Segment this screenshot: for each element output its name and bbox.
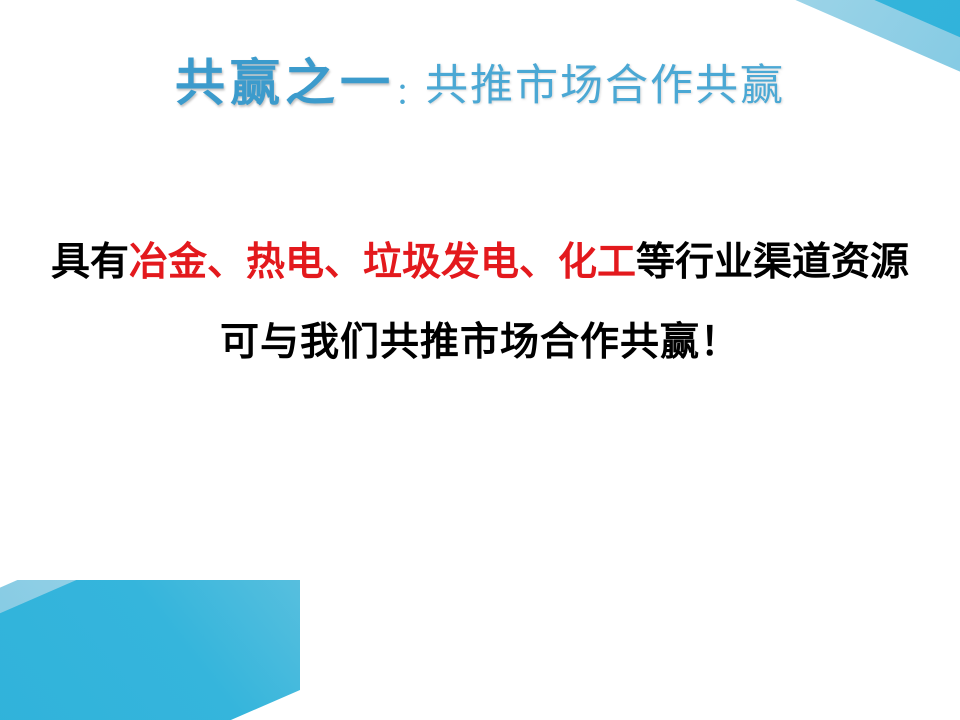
ribbon-band-dark-bottom-left — [0, 580, 300, 720]
slide-title-subtitle: 共推市场合作共赢 — [425, 61, 785, 111]
presentation-slide: 共赢之一：共推市场合作共赢 具有冶金、热电、垃圾发电、化工等行业渠道资源 可与我… — [0, 0, 960, 720]
body-line-2: 可与我们共推市场合作共赢！ — [0, 323, 960, 362]
ribbon-band-pale-bottom-left — [0, 580, 300, 720]
body-line-1: 具有冶金、热电、垃圾发电、化工等行业渠道资源 — [0, 243, 960, 282]
decoration-bottom-left — [0, 580, 300, 720]
slide-body: 具有冶金、热电、垃圾发电、化工等行业渠道资源 可与我们共推市场合作共赢！ — [0, 243, 960, 362]
slide-title-main: 共赢之一 — [175, 53, 395, 112]
body-line-1-segment-highlight: 冶金、热电、垃圾发电、化工 — [129, 241, 636, 284]
ribbon-band-mid-bottom-left — [0, 580, 300, 720]
ribbon-band-light-bottom-left — [0, 580, 300, 720]
body-line-1-segment-suffix: 等行业渠道资源 — [636, 241, 909, 284]
body-line-1-segment-prefix: 具有 — [51, 241, 129, 284]
ribbon-band-pale-top-right — [660, 0, 960, 54]
body-line-2-segment-text: 可与我们共推市场合作共赢！ — [220, 321, 740, 364]
slide-title-separator: ： — [395, 77, 425, 112]
slide-title: 共赢之一：共推市场合作共赢 — [0, 58, 960, 108]
